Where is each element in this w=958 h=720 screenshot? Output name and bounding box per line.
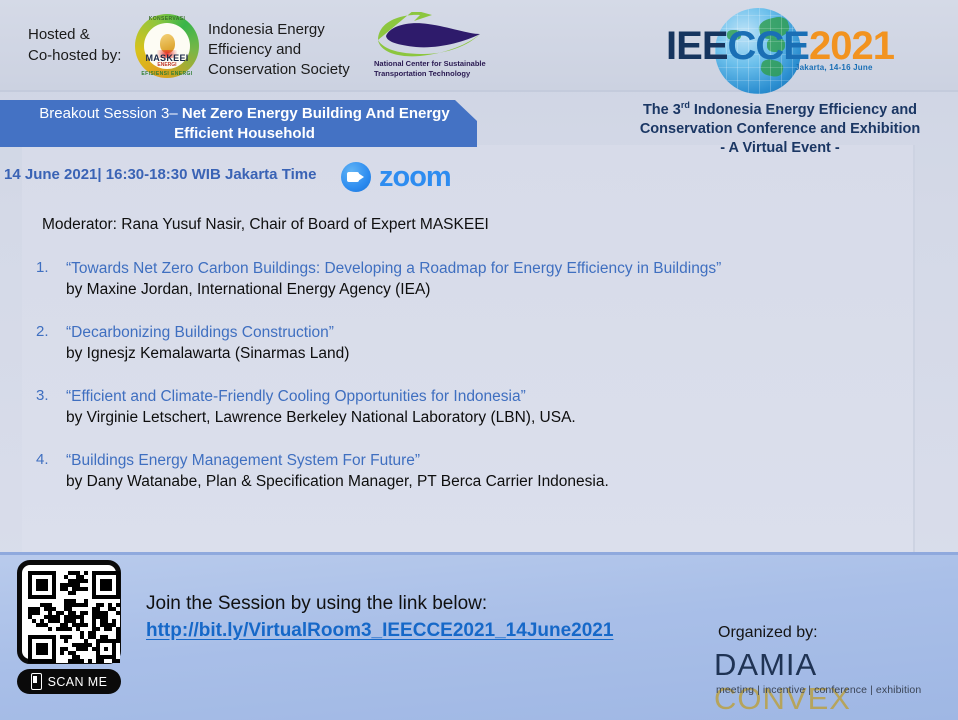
phone-icon [31,673,42,690]
ieecce-subtitle-ordinal: rd [681,100,690,110]
session-banner-title: Net Zero Energy Building And Energy Effi… [174,105,450,142]
content-panel-right-edge [913,145,915,552]
ieecce-subtitle-line1-post: Indonesia Energy Efficiency and [690,102,917,118]
moderator-line: Moderator: Rana Yusuf Nasir, Chair of Bo… [42,216,489,234]
scan-me-label: SCAN ME [48,675,108,689]
talk-item: 1. “Towards Net Zero Carbon Buildings: D… [36,258,896,301]
talk-number: 1. [36,258,66,301]
damia-convex-wordmark: DAMIA CONVEX [714,648,946,716]
scan-me-badge: SCAN ME [17,669,121,694]
talk-body: “Towards Net Zero Carbon Buildings: Deve… [66,258,896,301]
qr-code-image[interactable] [28,571,120,663]
maskeei-arc-top-text: KONSERVASI [131,16,203,22]
talk-body: “Buildings Energy Management System For … [66,450,896,493]
organizer-tagline: meeting | incentive | conference | exhib… [716,684,921,696]
maskeei-sub-text: ENERGI [131,62,203,68]
talk-number: 4. [36,450,66,493]
talk-speaker: by Virginie Letschert, Lawrence Berkeley… [66,407,896,429]
talk-speaker: by Maxine Jordan, International Energy A… [66,279,896,301]
ieecce-wordmark-part1: IEE [666,24,727,68]
talk-number: 3. [36,386,66,429]
talk-body: “Efficient and Climate-Friendly Cooling … [66,386,896,429]
join-instruction: Join the Session by using the link below… [146,590,766,617]
talk-title: “Decarbonizing Buildings Construction” [66,322,896,343]
damia-word: DAMIA [714,647,815,682]
ieecce-date-tag: Jakarta, 14-16 June [795,63,915,72]
join-block: Join the Session by using the link below… [146,590,766,644]
join-link[interactable]: http://bit.ly/VirtualRoom3_IEECCE2021_14… [146,617,766,644]
talk-title: “Towards Net Zero Carbon Buildings: Deve… [66,258,896,279]
maskeei-logo: KONSERVASI MASKEEI ENERGI EFISIENSI ENER… [131,10,203,82]
talk-speaker: by Ignesjz Kemalawarta (Sinarmas Land) [66,343,896,365]
ncstt-leaf-icon [372,12,484,60]
talk-item: 3. “Efficient and Climate-Friendly Cooli… [36,386,896,429]
zoom-wordmark: zoom [379,163,451,192]
talk-item: 4. “Buildings Energy Management System F… [36,450,896,493]
talk-title: “Buildings Energy Management System For … [66,450,896,471]
ncstt-logo: National Center for Sustainable Transpor… [372,12,484,82]
talk-body: “Decarbonizing Buildings Construction” b… [66,322,896,365]
ieecce-subtitle-line3: - A Virtual Event - [720,140,840,156]
session-datetime: 14 June 2021| 16:30-18:30 WIB Jakarta Ti… [4,164,324,185]
session-banner-prefix: Breakout Session 3– [39,105,177,122]
talk-number: 2. [36,322,66,365]
talk-speaker: by Dany Watanabe, Plan & Specification M… [66,471,896,493]
ieecce-subtitle-line2: Conservation Conference and Exhibition [640,121,920,137]
session-banner-text: Breakout Session 3– Net Zero Energy Buil… [13,104,465,144]
slide-root: Hosted &Co-hosted by: KONSERVASI MASKEEI… [0,0,958,720]
camera-lens [358,173,364,181]
qr-code-frame[interactable] [17,560,121,664]
ieecce-subtitle-line1-pre: The 3 [643,102,681,118]
organizer-block: Organized by: DAMIA CONVEX meeting | inc… [714,624,946,706]
talk-title: “Efficient and Climate-Friendly Cooling … [66,386,896,407]
hosted-by-label: Hosted &Co-hosted by: [28,24,148,66]
maskeei-org-name: Indonesia Energy Efficiency and Conserva… [208,20,383,80]
ieecce-wordmark-part2: CCE [728,24,809,68]
ieecce-wordmark: IEECCE2021 [615,26,945,66]
talks-list: 1. “Towards Net Zero Carbon Buildings: D… [36,258,896,514]
ieecce-subtitle: The 3rd Indonesia Energy Efficiency and … [615,96,945,158]
maskeei-arc-bottom-text: EFISIENSI ENERGI [131,71,203,77]
ieecce-logo-block: IEECCE2021 Jakarta, 14-16 June The 3rd I… [615,8,945,138]
ncstt-caption: National Center for Sustainable Transpor… [374,59,486,79]
session-banner: Breakout Session 3– Net Zero Energy Buil… [0,100,477,147]
ieecce-wordmark-year: 2021 [809,24,894,68]
footer-divider [0,552,958,555]
qr-code-block[interactable]: SCAN ME [17,560,123,694]
talk-item: 2. “Decarbonizing Buildings Construction… [36,322,896,365]
organized-by-label: Organized by: [718,624,818,642]
video-camera-icon [341,162,371,192]
zoom-logo: zoom [341,160,481,194]
